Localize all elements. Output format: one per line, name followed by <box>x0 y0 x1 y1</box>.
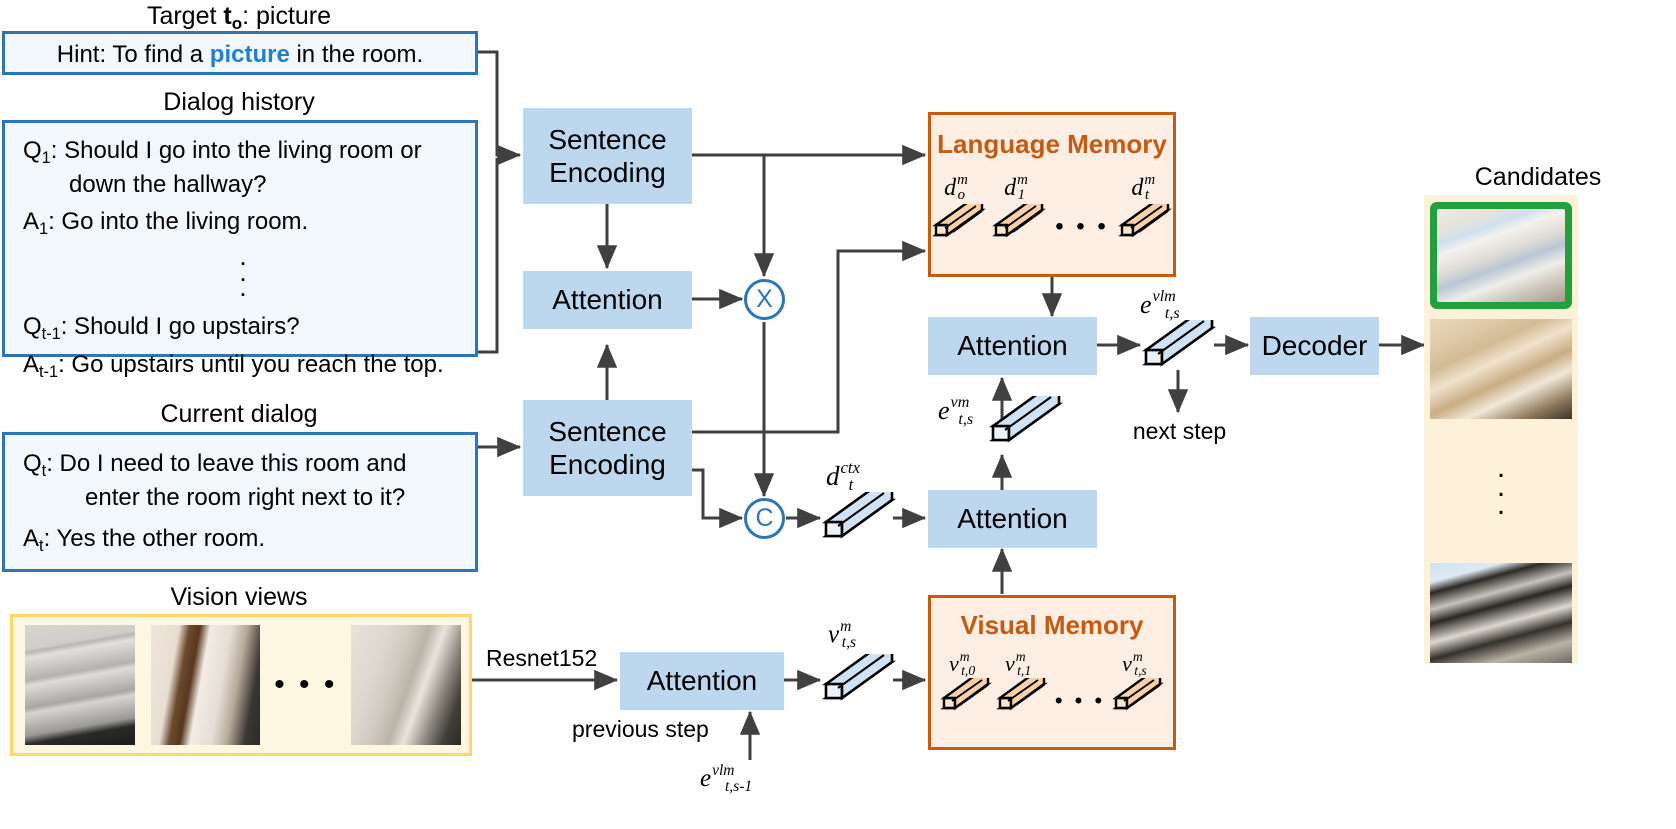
dialog-turn: Q1: Should I go into the living room or <box>23 136 463 168</box>
current-dialog-panel: Qt: Do I need to leave this room and ent… <box>2 432 478 572</box>
vm-memory-bar-icon <box>995 678 1049 714</box>
vm-slot-label: vmt,s <box>1111 653 1165 675</box>
speaker-index: t-1 <box>39 363 58 381</box>
dialog-turn-continuation: down the hallway? <box>23 170 463 200</box>
candidate-item[interactable] <box>1430 563 1572 663</box>
e-vm-sub: t,s <box>958 411 973 428</box>
candidates-ellipsis-icon: ... <box>1497 459 1505 515</box>
decoder-label: Decoder <box>1262 329 1368 362</box>
lm-memory-bar-icon <box>1117 204 1173 242</box>
v-m-base: v <box>828 621 839 648</box>
previous-step-label: previous step <box>572 716 709 743</box>
attention-language-block[interactable]: Attention <box>928 317 1097 375</box>
hint-suffix: in the room. <box>290 41 423 68</box>
attention-left-label: Attention <box>552 283 663 316</box>
utterance-line1: : Should I go into the living room or <box>51 137 422 164</box>
lm-slot-label: dmt <box>1117 176 1173 200</box>
vm-slot-sub: t,1 <box>1017 663 1031 678</box>
lm-slot-label: dm1 <box>991 176 1047 200</box>
utterance-line1: : Go upstairs until you reach the top. <box>58 351 444 378</box>
utterance-line1: : Go into the living room. <box>48 208 308 235</box>
multiply-operator-icon: X <box>744 279 785 320</box>
dialog-turn: A1: Go into the living room. <box>23 207 463 239</box>
decoder-block[interactable]: Decoder <box>1250 317 1379 375</box>
attention-vision-label: Attention <box>647 664 758 697</box>
d-ctx-base: d <box>826 461 840 491</box>
lm-slot-base: d <box>1131 175 1143 201</box>
visual-memory-title: Visual Memory <box>931 610 1173 641</box>
v-m-sup: m <box>840 618 851 635</box>
lm-memory-bar-icon <box>931 204 987 242</box>
next-step-label: next step <box>1117 418 1242 445</box>
attention-ctx-label: Attention <box>957 502 1068 535</box>
vm-slot-sup: m <box>1016 649 1026 664</box>
target-symbol: t <box>223 2 231 30</box>
attention-vision-block[interactable]: Attention <box>620 652 784 710</box>
dialog-turn-continuation: enter the room right next to it? <box>23 483 463 513</box>
lm-slot-sub: 1 <box>1018 187 1025 203</box>
concat-symbol: C <box>755 504 773 533</box>
language-memory-ellipsis-icon: • • • <box>1055 215 1109 239</box>
e-vlm-prev-base: e <box>700 765 711 792</box>
sentence-encoding-bottom-line1: Sentence <box>548 415 666 448</box>
language-memory-title: Language Memory <box>931 129 1173 160</box>
e-vlm-sup: vlm <box>1153 288 1176 305</box>
vm-slot-label: vmt,0 <box>939 653 993 675</box>
attention-left-block[interactable]: Attention <box>523 271 692 329</box>
speaker-index: 1 <box>42 149 51 167</box>
vm-slot-base: v <box>1122 651 1132 676</box>
sentence-encoding-top-line1: Sentence <box>548 123 666 156</box>
speaker: Q <box>23 450 42 477</box>
target-caption-suffix: : picture <box>242 2 331 30</box>
lm-slot-sub: t <box>1145 187 1149 203</box>
speaker-index: t-1 <box>42 325 61 343</box>
vision-views-ellipsis-icon: • • • <box>274 670 337 700</box>
e-vlm-prev-sup: vlm <box>712 762 734 779</box>
lm-slot-sup: m <box>957 172 968 188</box>
sentence-encoding-top-line2: Encoding <box>548 156 666 189</box>
v-m-vector-icon <box>818 654 898 706</box>
vm-slot-base: v <box>949 651 959 676</box>
d-ctx-vector-icon <box>818 492 898 544</box>
e-vlm-prev-label: evlmt,s-1 <box>700 766 761 791</box>
current-dialog-caption: Current dialog <box>0 400 478 429</box>
candidate-thumbnail <box>1437 209 1565 302</box>
lm-memory-bar-icon <box>991 204 1047 242</box>
v-m-sub: t,s <box>842 634 856 651</box>
vision-view-thumbnail[interactable] <box>151 625 261 745</box>
vision-views-panel: • • • <box>10 614 472 756</box>
resnet-label: Resnet152 <box>486 645 597 672</box>
candidates-caption: Candidates <box>1400 163 1676 192</box>
architecture-diagram: Target to: picture Hint: To find a pictu… <box>0 0 1676 829</box>
speaker: Q <box>23 313 42 340</box>
e-vm-sup: vm <box>951 394 970 411</box>
attention-ctx-block[interactable]: Attention <box>928 490 1097 548</box>
target-caption-prefix: Target <box>147 2 223 30</box>
speaker: Q <box>23 137 42 164</box>
utterance-line2: down the hallway? <box>69 171 266 198</box>
lm-slot-sup: m <box>1144 172 1155 188</box>
lm-slot-label: dmo <box>931 176 987 200</box>
vm-slot-sub: t,0 <box>961 663 975 678</box>
visual-memory-block: Visual Memory vmt,0 vmt,1 <box>928 595 1176 750</box>
multiply-symbol: X <box>756 285 773 314</box>
hint-prefix: Hint: To find a <box>57 41 210 68</box>
language-memory-block: Language Memory dmo dm1 <box>928 112 1176 277</box>
concat-operator-icon: C <box>744 498 785 539</box>
dialog-turn: At-1: Go upstairs until you reach the to… <box>23 350 463 382</box>
e-vlm-base: e <box>1140 290 1152 319</box>
visual-memory-ellipsis-icon: • • • <box>1055 690 1105 712</box>
hint-panel: Hint: To find a picture in the room. <box>2 31 478 75</box>
vm-slot-sup: m <box>960 649 970 664</box>
vm-slot-sup: m <box>1133 649 1143 664</box>
utterance-line1: : Do I need to leave this room and <box>46 450 406 477</box>
utterance-line1: : Should I go upstairs? <box>61 313 300 340</box>
e-vm-vector-icon <box>985 396 1065 448</box>
vm-slot-sub: t,s <box>1134 663 1147 678</box>
e-vm-label: evmt,s <box>938 398 983 424</box>
speaker: A <box>23 525 39 552</box>
sentence-encoding-bottom-block[interactable]: Sentence Encoding <box>523 400 692 496</box>
vision-view-thumbnail[interactable] <box>351 625 461 745</box>
lm-slot-base: d <box>1004 175 1016 201</box>
vision-views-caption: Vision views <box>0 583 478 612</box>
speaker: A <box>23 208 39 235</box>
target-caption: Target to: picture <box>0 2 478 34</box>
e-vlm-prev-sub: t,s-1 <box>725 778 752 795</box>
dialog-history-panel: Q1: Should I go into the living room or … <box>2 120 478 357</box>
utterance-line2: enter the room right next to it? <box>85 484 405 511</box>
dialog-history-ellipsis-icon: ... <box>23 249 463 296</box>
attention-language-label: Attention <box>957 329 1068 362</box>
dialog-history-caption: Dialog history <box>0 88 478 117</box>
dialog-turn: Qt: Do I need to leave this room and <box>23 449 463 481</box>
dialog-turn: Qt-1: Should I go upstairs? <box>23 312 463 344</box>
sentence-encoding-top-block[interactable]: Sentence Encoding <box>523 108 692 204</box>
candidates-panel: ... <box>1424 195 1578 663</box>
candidate-item-selected[interactable] <box>1430 202 1572 309</box>
candidate-item[interactable] <box>1430 319 1572 419</box>
vm-slot-base: v <box>1005 651 1015 676</box>
d-ctx-label: dctxt <box>826 463 864 490</box>
speaker: A <box>23 351 39 378</box>
lm-slot-sup: m <box>1017 172 1028 188</box>
utterance-line1: : Yes the other room. <box>44 525 265 552</box>
e-vlm-vector-icon <box>1138 320 1218 372</box>
vision-view-thumbnail[interactable] <box>25 625 135 745</box>
v-m-label: vmt,s <box>828 622 865 647</box>
vm-slot-label: vmt,1 <box>995 653 1049 675</box>
lm-slot-base: d <box>944 175 956 201</box>
vm-memory-bar-icon <box>939 678 993 714</box>
dialog-turn: At: Yes the other room. <box>23 524 463 556</box>
e-vm-base: e <box>938 396 950 425</box>
hint-keyword: picture <box>210 41 290 68</box>
sentence-encoding-bottom-line2: Encoding <box>548 448 666 481</box>
lm-slot-sub: o <box>958 187 965 203</box>
vm-memory-bar-icon <box>1111 678 1165 714</box>
e-vlm-label: evlmt,s <box>1140 292 1190 318</box>
speaker-index: 1 <box>39 220 48 238</box>
